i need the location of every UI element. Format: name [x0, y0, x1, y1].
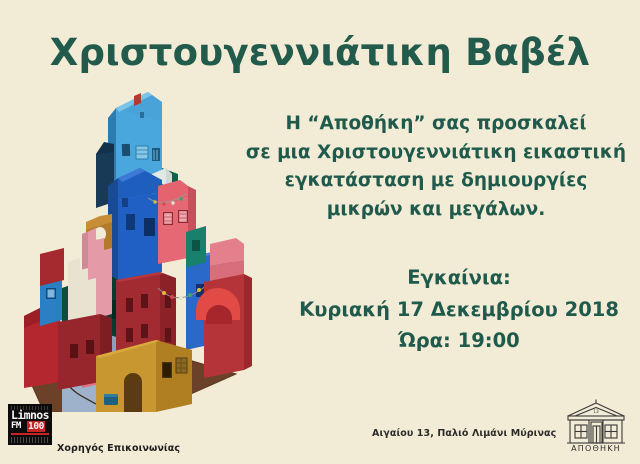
apothiki-logo-number: 13: [593, 409, 599, 414]
limnos-logo-name: Limnos: [11, 410, 49, 421]
venue-address: Αιγαίου 13, Παλιό Λιμάνι Μύρινας: [372, 428, 556, 439]
invitation-line-2: σε μια Χριστουγεννιάτικη εικαστική: [236, 139, 636, 168]
opening-details: Εγκαίνια: Κυριακή 17 Δεκεμβρίου 2018 Ώρα…: [280, 262, 638, 357]
apothiki-venue-logo: 13 ΑΠΟΘΗΚΗ: [562, 399, 630, 453]
opening-label: Εγκαίνια:: [280, 262, 638, 294]
limnos-fm-logo: Limnos FM 100: [8, 404, 52, 445]
poster-canvas: Χριστουγεννιάτικη Βαβέλ: [0, 0, 640, 464]
invitation-line-3: εγκατάσταση με δημιουργίες: [236, 167, 636, 196]
logo-accent-bar: [11, 433, 49, 435]
invitation-line-1: Η “Αποθήκη” σας προσκαλεί: [236, 110, 636, 139]
invitation-line-4: μικρών και μεγάλων.: [236, 196, 636, 225]
apothiki-logo-name: ΑΠΟΘΗΚΗ: [571, 444, 621, 453]
opening-date: Κυριακή 17 Δεκεμβρίου 2018: [280, 294, 638, 326]
invitation-text: Η “Αποθήκη” σας προσκαλεί σε μια Χριστου…: [236, 110, 636, 225]
artwork-house-sculpture: [0, 82, 252, 412]
sponsor-label: Χορηγός Επικοινωνίας: [57, 443, 180, 454]
page-title: Χριστουγεννιάτικη Βαβέλ: [0, 34, 640, 73]
logo-waveform-icon: [11, 437, 49, 443]
opening-time: Ώρα: 19:00: [280, 325, 638, 357]
limnos-logo-band: FM: [11, 422, 21, 431]
limnos-logo-frequency: 100: [27, 421, 45, 432]
